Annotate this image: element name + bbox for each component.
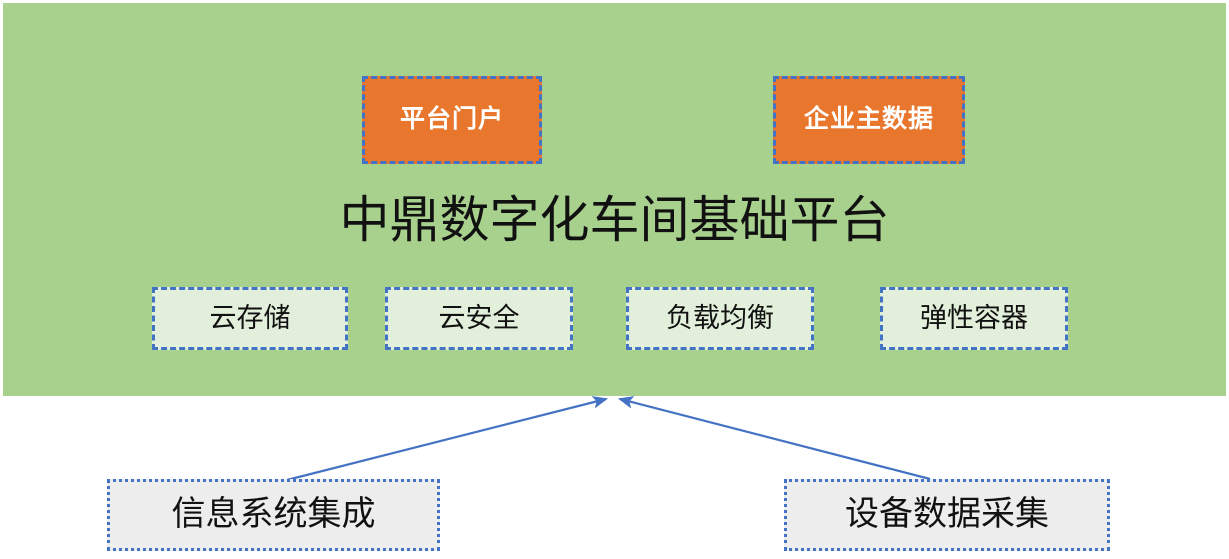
source-device-data-collection[interactable]: 设备数据采集 <box>784 479 1110 551</box>
connector-collection-to-platform <box>620 399 930 479</box>
module-platform-portal[interactable]: 平台门户 <box>362 76 542 164</box>
source-system-integration-label: 信息系统集成 <box>172 496 376 533</box>
capability-elastic-container[interactable]: 弹性容器 <box>880 287 1068 350</box>
capability-cloud-security-label: 云安全 <box>439 304 520 334</box>
capability-cloud-storage[interactable]: 云存储 <box>152 287 348 350</box>
capability-cloud-security[interactable]: 云安全 <box>385 287 573 350</box>
capability-load-balancing-label: 负载均衡 <box>666 304 774 334</box>
capability-load-balancing[interactable]: 负载均衡 <box>626 287 814 350</box>
capability-cloud-storage-label: 云存储 <box>210 304 291 334</box>
source-device-data-collection-label: 设备数据采集 <box>845 496 1049 533</box>
connector-integration-to-platform <box>283 399 606 481</box>
diagram-canvas: 平台门户 企业主数据 中鼎数字化车间基础平台 云存储 云安全 负载均衡 弹性容器… <box>0 0 1229 559</box>
module-platform-portal-label: 平台门户 <box>400 106 504 134</box>
capability-elastic-container-label: 弹性容器 <box>920 304 1028 334</box>
module-enterprise-master-data-label: 企业主数据 <box>804 106 934 134</box>
platform-title: 中鼎数字化车间基础平台 <box>0 192 1229 250</box>
source-system-integration[interactable]: 信息系统集成 <box>107 479 440 551</box>
module-enterprise-master-data[interactable]: 企业主数据 <box>773 76 965 164</box>
